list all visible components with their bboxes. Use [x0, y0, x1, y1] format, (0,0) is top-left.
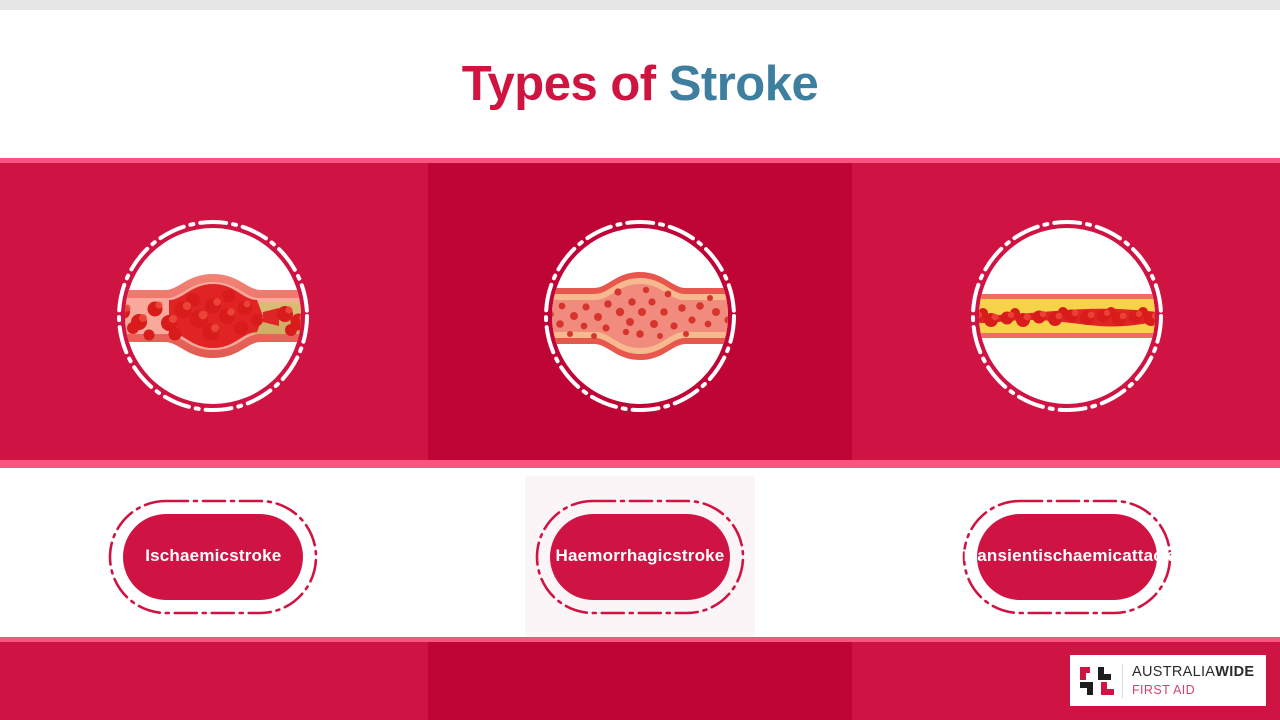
logo-line-australiawide: AUSTRALIAWIDE [1132, 665, 1254, 680]
logo-line-first-aid: FIRST AID [1132, 684, 1254, 697]
logo-divider [1122, 664, 1123, 698]
australia-wide-first-aid-logo[interactable]: AUSTRALIAWIDE FIRST AID [1070, 655, 1266, 706]
logo-word-australia: AUSTRALIA [1132, 664, 1215, 680]
label-pill-ischaemic[interactable]: Ischaemic stroke [107, 498, 319, 616]
label-line-2: stroke [672, 545, 724, 567]
illustration-cell-haemorrhagic [427, 163, 854, 468]
label-line-1: Transient [961, 545, 1038, 567]
label-line-1: Haemorrhagic [556, 545, 673, 567]
page-title-part2: Stroke [669, 57, 819, 111]
label-line-2: ischaemic [1038, 545, 1122, 567]
illustration-row [0, 163, 1280, 468]
illustration-cell-ischaemic [0, 163, 427, 468]
label-pill-text-transient-ischaemic-attack: Transient ischaemic attack [977, 514, 1157, 600]
illustration-cell-transient-ischaemic-attack [853, 163, 1280, 468]
label-cell-haemorrhagic: Haemorrhagic stroke [427, 476, 854, 637]
footer-middle-column-background [428, 637, 852, 720]
blood-vessel-with-clot-icon [113, 216, 313, 416]
label-cell-transient-ischaemic-attack: Transient ischaemic attack [853, 476, 1280, 637]
label-pill-haemorrhagic[interactable]: Haemorrhagic stroke [534, 498, 746, 616]
label-line-2: stroke [229, 545, 281, 567]
blood-vessel-with-aneurysm-icon [540, 216, 740, 416]
label-pill-transient-ischaemic-attack[interactable]: Transient ischaemic attack [961, 498, 1173, 616]
band-top-pink-line [0, 158, 1280, 163]
label-row: Ischaemic stroke Haemorrhagic stroke [0, 476, 1280, 637]
page-title: Types of Stroke [462, 56, 818, 112]
logo-text: AUSTRALIAWIDE FIRST AID [1132, 665, 1254, 696]
label-pill-text-haemorrhagic: Haemorrhagic stroke [550, 514, 730, 600]
slide: Types of Stroke [0, 0, 1280, 720]
label-pill-text-ischaemic: Ischaemic stroke [123, 514, 303, 600]
label-cell-ischaemic: Ischaemic stroke [0, 476, 427, 637]
australia-wide-first-aid-cross-icon [1077, 661, 1117, 701]
band-bottom-pink-line [0, 460, 1280, 468]
logo-word-wide: WIDE [1215, 664, 1254, 680]
label-line-3: attack [1122, 545, 1172, 567]
page-title-part1: Types of [462, 57, 669, 111]
top-grey-strip [0, 0, 1280, 10]
footer-top-pink-line [0, 637, 1280, 642]
label-line-1: Ischaemic [145, 545, 229, 567]
title-area: Types of Stroke [0, 10, 1280, 158]
blood-vessel-with-plaque-narrowing-icon [967, 216, 1167, 416]
